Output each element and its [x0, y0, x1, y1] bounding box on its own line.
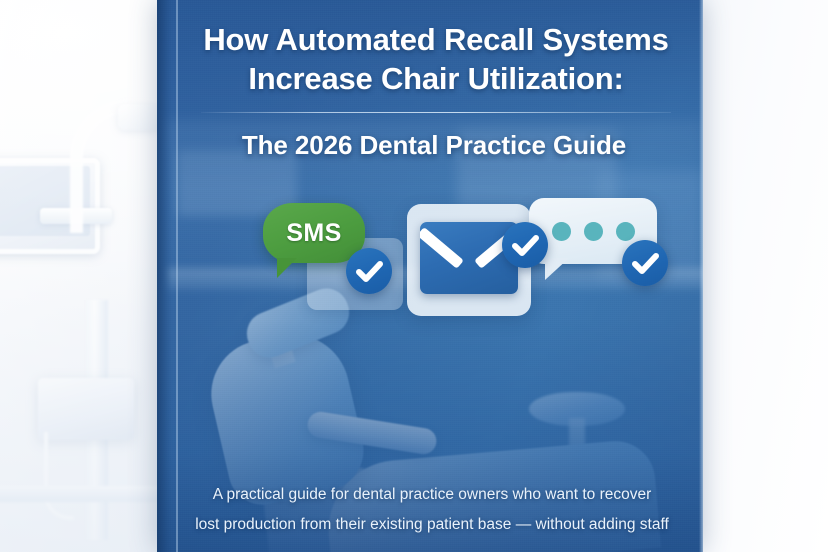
cover-caption: A practical guide for dental practice ow… — [181, 480, 683, 540]
check-badge-icon — [502, 222, 548, 268]
overhead-light-arm-icon — [70, 100, 163, 233]
title-divider — [201, 112, 671, 113]
title-line-2: Increase Chair Utilization: — [187, 59, 685, 98]
counter-edge — [0, 486, 180, 502]
operatory-monitor-icon — [0, 158, 100, 254]
check-badge-icon — [346, 248, 392, 294]
equipment-post-icon — [86, 300, 108, 540]
cover-subtitle: The 2026 Dental Practice Guide — [183, 130, 685, 161]
title-line-1: How Automated Recall Systems — [187, 20, 685, 59]
typing-dot — [552, 222, 571, 241]
cover-title: How Automated Recall Systems Increase Ch… — [187, 20, 685, 98]
channel-icon-cluster: SMS — [157, 190, 703, 320]
check-badge-icon — [622, 240, 668, 286]
delivery-unit-icon — [38, 378, 134, 440]
typing-dot — [584, 222, 603, 241]
background-right-wash — [703, 0, 828, 552]
caption-line-2: lost production from their existing pati… — [181, 510, 683, 540]
overhead-light-head-icon — [118, 104, 162, 130]
typing-dot — [616, 222, 635, 241]
suction-tube-icon — [44, 432, 74, 520]
monitor-arm-icon — [40, 208, 112, 224]
envelope-flap — [427, 227, 511, 271]
caption-line-1: A practical guide for dental practice ow… — [181, 480, 683, 510]
book-cover: SMS — [157, 0, 703, 552]
ebook-cover-image: SMS — [0, 0, 828, 552]
